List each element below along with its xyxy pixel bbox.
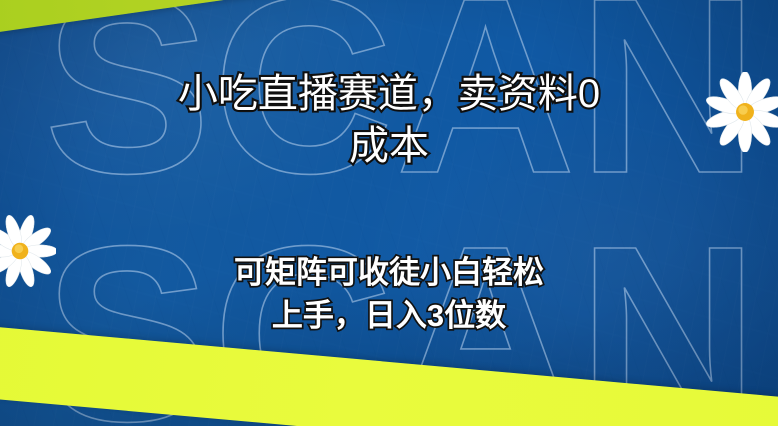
- headline-line-1: 小吃直播赛道，卖资料0: [58, 68, 720, 120]
- subtitle-line-2: 上手，日入3位数: [120, 295, 658, 338]
- poster-canvas: SCAN SCAN: [0, 0, 778, 426]
- subtitle-line-1: 可矩阵可收徒小白轻松: [120, 252, 658, 295]
- headline-text: 小吃直播赛道，卖资料0 成本: [58, 68, 720, 172]
- headline-line-2: 成本: [58, 120, 720, 172]
- subtitle-text: 可矩阵可收徒小白轻松 上手，日入3位数: [120, 252, 658, 338]
